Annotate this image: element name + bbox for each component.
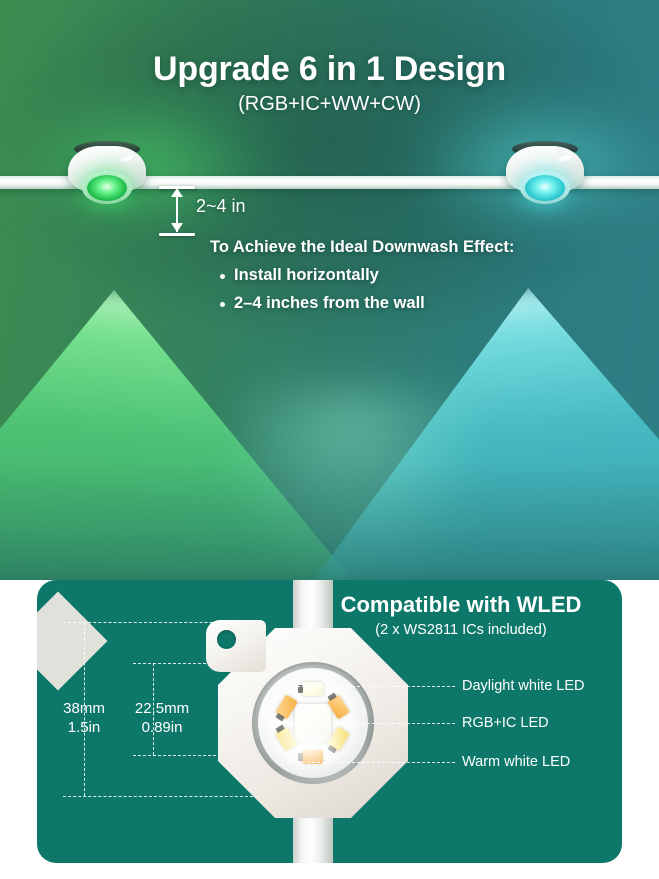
arrow-down-icon	[171, 223, 183, 232]
outer-dimension-imperial: 1.5in	[68, 719, 101, 736]
callout-line-daylight-white	[287, 686, 455, 687]
light-cone-green	[0, 290, 354, 580]
callout-label-rgb-ic: RGB+IC LED	[462, 715, 549, 731]
product-detail-panel: Compatible with WLED (2 x WS2811 ICs inc…	[37, 580, 622, 863]
callout-line-rgb-ic	[287, 723, 455, 724]
right-fixture-lens	[525, 175, 565, 201]
light-cone-blend	[236, 392, 466, 580]
led-pad	[298, 753, 303, 761]
outer-dimension-metric: 38mm	[63, 700, 105, 717]
light-cone-cyan	[312, 288, 659, 580]
inner-dimension-imperial: 0.89in	[142, 719, 183, 736]
floor-shadow-gradient	[0, 460, 659, 580]
outer-dimension-label: 38mm 1.5in	[43, 699, 125, 737]
list-item: Install horizontally	[220, 266, 514, 285]
product-infographic: Upgrade 6 in 1 Design (RGB+IC+WW+CW) 2~4…	[0, 0, 659, 879]
instructions-block: To Achieve the Ideal Downwash Effect: In…	[210, 238, 514, 322]
hero-title: Upgrade 6 in 1 Design	[0, 50, 659, 89]
led-module-screw-hole	[217, 630, 236, 649]
led-pad	[275, 725, 284, 733]
led-module-illustration	[192, 580, 442, 863]
hero-title-block: Upgrade 6 in 1 Design (RGB+IC+WW+CW)	[0, 50, 659, 116]
callout-label-warm-white: Warm white LED	[462, 754, 570, 770]
panel-corner-accent	[37, 592, 107, 691]
list-item: 2–4 inches from the wall	[220, 294, 514, 313]
callout-label-daylight-white: Daylight white LED	[462, 678, 585, 694]
led-pad	[275, 713, 284, 721]
instructions-list: Install horizontally 2–4 inches from the…	[210, 266, 514, 313]
led-module-cable-bottom	[293, 812, 333, 863]
led-module-mount-tab	[206, 620, 266, 672]
callout-line-warm-white	[287, 762, 455, 763]
arrow-up-icon	[171, 188, 183, 197]
inner-dimension-metric: 22.5mm	[135, 700, 189, 717]
wall-distance-label: 2~4 in	[196, 196, 246, 217]
hero-subtitle: (RGB+IC+WW+CW)	[0, 93, 659, 116]
hero-scene: Upgrade 6 in 1 Design (RGB+IC+WW+CW) 2~4…	[0, 0, 659, 580]
dimension-tick-bottom	[159, 233, 195, 236]
instructions-heading: To Achieve the Ideal Downwash Effect:	[210, 238, 514, 257]
led-daylight-white-top	[302, 682, 323, 696]
led-pad	[327, 693, 336, 701]
left-fixture-lens	[87, 175, 127, 201]
led-pad	[327, 745, 336, 753]
